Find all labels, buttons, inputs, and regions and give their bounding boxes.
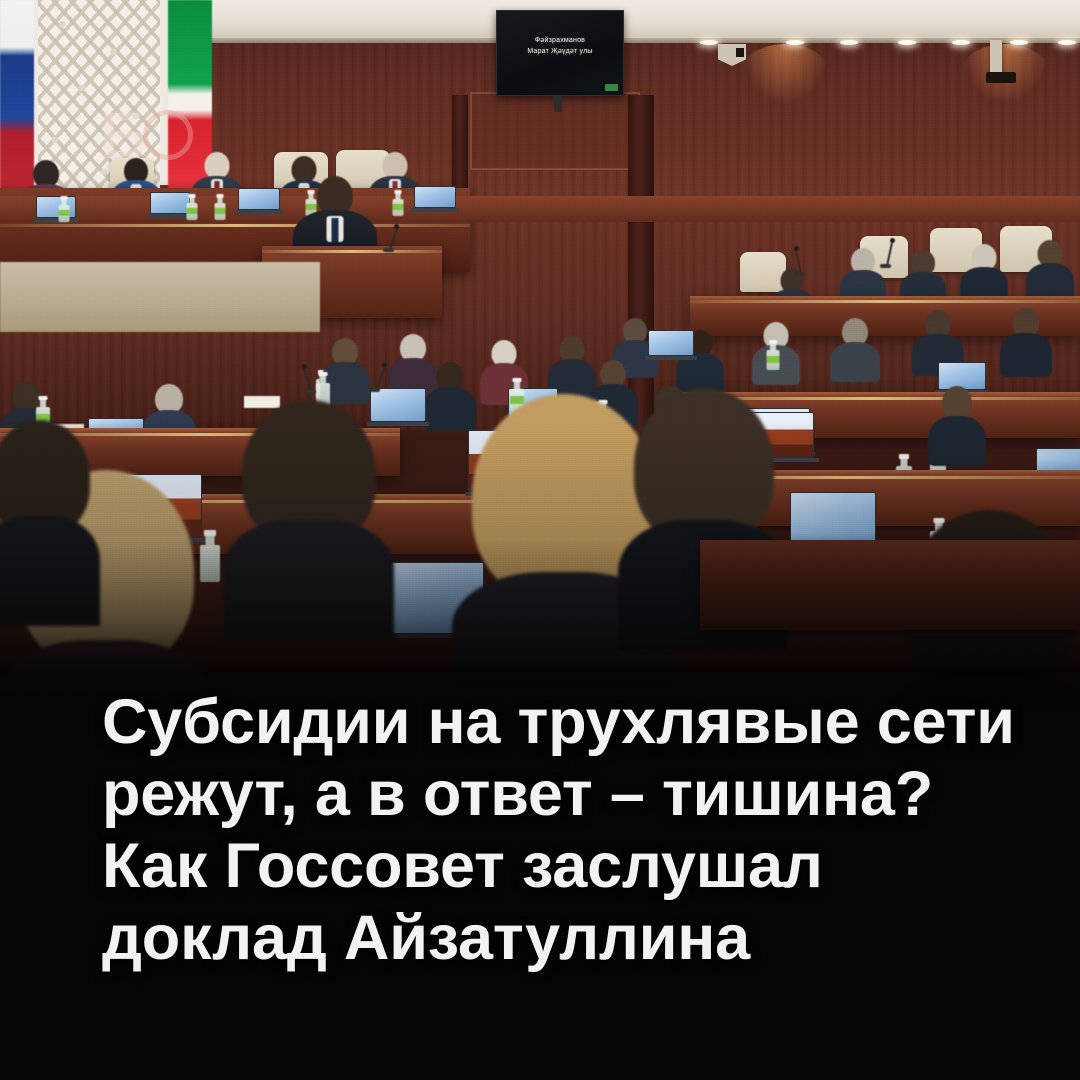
desk-gold-trim (690, 300, 1080, 303)
water-bottle (392, 190, 403, 216)
presidium-laptop (414, 186, 456, 208)
screen-mount-arm (554, 96, 562, 112)
ceiling-spotlight (786, 40, 804, 45)
ceiling-spotlight (700, 40, 718, 45)
deputy (830, 318, 880, 380)
water-bottle (58, 196, 69, 222)
foreground-attendee (224, 400, 394, 630)
watermark-ring-o (143, 110, 193, 160)
headline-line-4: доклад Айзатуллина (102, 902, 1002, 974)
ceiling-spotlight (1010, 40, 1028, 45)
news-card: Фәйзрахманов Марат Җәүдәт улы (0, 0, 1080, 1080)
ceiling-projector-mount (990, 40, 1002, 74)
desk-microphone (876, 238, 900, 268)
ceiling-light-glow (740, 44, 830, 104)
presidium-laptop (150, 192, 190, 214)
rostrum-gold-trim (262, 250, 442, 253)
rostrum-microphone (380, 224, 402, 252)
foreground-attendee (0, 420, 100, 620)
presidium-laptop (238, 188, 280, 210)
screen-speaker-name: Фәйзрахманов Марат Җәүдәт улы (497, 35, 623, 57)
ceiling-spotlight (898, 40, 916, 45)
headline-line-1: Субсидии на трухлявые сети (102, 686, 1002, 758)
hall-aisle-floor (0, 262, 320, 332)
presidium-laptop (36, 196, 76, 218)
headline-line-2: режут, а в ответ – тишина? (102, 758, 1002, 830)
water-bottle (186, 194, 197, 220)
screen-corner-badge (605, 84, 618, 91)
desk-microphone (300, 364, 326, 394)
deputy (1026, 240, 1074, 300)
deputy (960, 244, 1008, 302)
watermark-letter-b: Б (100, 102, 145, 168)
deputy (1000, 308, 1052, 374)
ceiling-spotlight (1058, 40, 1076, 45)
ceiling-spotlight (840, 40, 858, 45)
desk-microphone (364, 362, 390, 392)
headline: Субсидии на трухлявые сети режут, а в от… (102, 686, 1002, 974)
deputy-laptop (648, 330, 694, 356)
foreground-desk (700, 540, 1080, 630)
publication-watermark: Б (100, 100, 192, 172)
water-bottle (214, 194, 225, 220)
ceiling-spotlight (952, 40, 970, 45)
hall-presentation-screen: Фәйзрахманов Марат Җәүдәт улы (496, 10, 624, 96)
deputy (928, 386, 986, 462)
water-bottle (766, 340, 779, 370)
desk-microphone (790, 246, 814, 276)
headline-line-3: Как Госсовет заслушал (102, 830, 1002, 902)
